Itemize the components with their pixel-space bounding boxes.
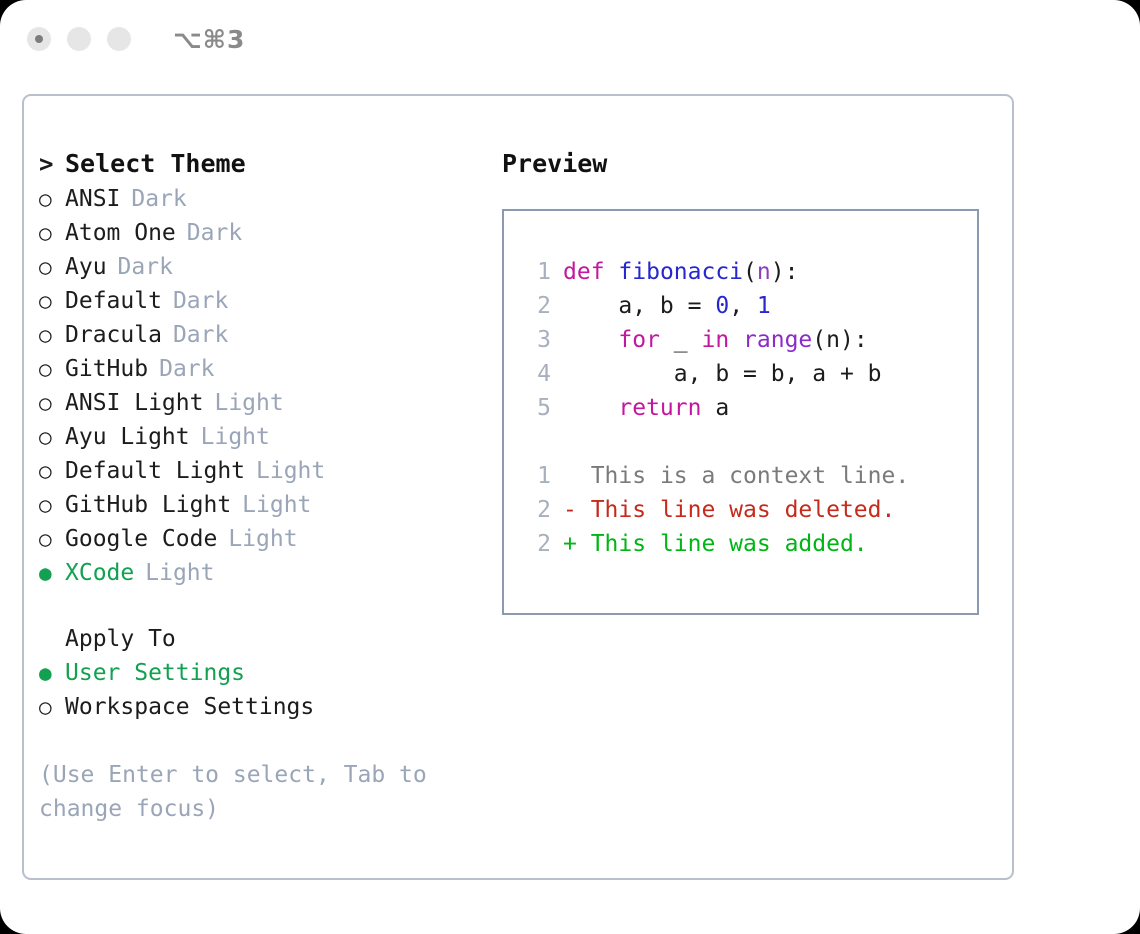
theme-option-row[interactable]: ●XCodeLight xyxy=(39,556,489,590)
code-line-number: 5 xyxy=(521,391,551,425)
code-token xyxy=(605,255,619,289)
code-line: 4 a, b = b, a + b xyxy=(521,357,909,391)
traffic-light-3-button[interactable] xyxy=(107,27,131,51)
code-token: (n): xyxy=(812,323,867,357)
theme-option-label: Default Light xyxy=(65,454,245,488)
code-token: return xyxy=(618,391,701,425)
code-token: 1 xyxy=(757,289,771,323)
diff-line: 2- This line was deleted. xyxy=(521,493,909,527)
theme-option-row[interactable]: ○Atom OneDark xyxy=(39,216,489,250)
keyboard-hint-text: (Use Enter to select, Tab to change focu… xyxy=(39,758,449,826)
radio-unselected-icon[interactable]: ○ xyxy=(39,386,65,420)
theme-variant-tag: Dark xyxy=(173,318,228,352)
code-line: 5 return a xyxy=(521,391,909,425)
preview-title: Preview xyxy=(502,146,1002,182)
theme-option-row[interactable]: ○Ayu LightLight xyxy=(39,420,489,454)
theme-option-label: GitHub Light xyxy=(65,488,231,522)
code-line-number: 3 xyxy=(521,323,551,357)
apply-to-options-list: ●User Settings○Workspace Settings xyxy=(39,656,489,724)
code-token: , xyxy=(729,289,757,323)
theme-option-row[interactable]: ○Default LightLight xyxy=(39,454,489,488)
preview-box: 1def fibonacci(n):2 a, b = 0, 13 for _ i… xyxy=(502,209,979,615)
radio-unselected-icon[interactable]: ○ xyxy=(39,352,65,386)
keyboard-shortcut-label: ⌥⌘3 xyxy=(173,25,245,54)
theme-variant-tag: Dark xyxy=(159,352,214,386)
code-token: range xyxy=(743,323,812,357)
theme-option-label: Ayu xyxy=(65,250,107,284)
apply-to-option-label: Workspace Settings xyxy=(65,690,314,724)
code-token: a xyxy=(701,391,729,425)
select-theme-heading-label: Select Theme xyxy=(65,146,246,182)
diff-line-text: This line was deleted. xyxy=(577,493,896,527)
diff-line-number: 2 xyxy=(521,493,551,527)
theme-list-column: > Select Theme ○ANSIDark○Atom OneDark○Ay… xyxy=(39,146,489,826)
code-token xyxy=(563,391,618,425)
code-token: ): xyxy=(771,255,799,289)
radio-unselected-icon[interactable]: ○ xyxy=(39,488,65,522)
code-line: 2 a, b = 0, 1 xyxy=(521,289,909,323)
radio-unselected-icon[interactable]: ○ xyxy=(39,250,65,284)
radio-unselected-icon[interactable]: ○ xyxy=(39,420,65,454)
radio-unselected-icon[interactable]: ○ xyxy=(39,284,65,318)
diff-line: 1 This is a context line. xyxy=(521,459,909,493)
code-line-number: 1 xyxy=(521,255,551,289)
traffic-light-1-button[interactable] xyxy=(27,27,51,51)
theme-picker-panel: > Select Theme ○ANSIDark○Atom OneDark○Ay… xyxy=(22,94,1014,880)
code-token: a, b = xyxy=(563,289,715,323)
theme-variant-tag: Dark xyxy=(131,182,186,216)
theme-option-row[interactable]: ○AyuDark xyxy=(39,250,489,284)
theme-option-label: Default xyxy=(65,284,162,318)
code-token: 0 xyxy=(715,289,729,323)
theme-variant-tag: Dark xyxy=(187,216,242,250)
radio-unselected-icon[interactable]: ○ xyxy=(39,216,65,250)
apply-to-option-row[interactable]: ○Workspace Settings xyxy=(39,690,489,724)
radio-selected-icon[interactable]: ● xyxy=(39,656,65,690)
traffic-light-active-pip xyxy=(35,35,43,43)
theme-variant-tag: Light xyxy=(145,556,214,590)
code-token xyxy=(563,323,618,357)
theme-variant-tag: Light xyxy=(201,420,270,454)
code-token: in xyxy=(701,323,729,357)
preview-column: Preview 1def fibonacci(n):2 a, b = 0, 13… xyxy=(502,146,1002,615)
app-window: ⌥⌘3 > Select Theme ○ANSIDark○Atom OneDar… xyxy=(0,0,1140,934)
select-theme-heading: > Select Theme xyxy=(39,146,489,182)
diff-sign: + xyxy=(563,527,577,561)
code-token: n xyxy=(757,255,771,289)
theme-variant-tag: Light xyxy=(214,386,283,420)
theme-option-row[interactable]: ○GitHubDark xyxy=(39,352,489,386)
radio-unselected-icon[interactable]: ○ xyxy=(39,690,65,724)
diff-line-number: 1 xyxy=(521,459,551,493)
diff-sign: - xyxy=(563,493,577,527)
theme-option-label: Dracula xyxy=(65,318,162,352)
theme-option-row[interactable]: ○ANSI LightLight xyxy=(39,386,489,420)
code-preview: 1def fibonacci(n):2 a, b = 0, 13 for _ i… xyxy=(521,255,909,561)
diff-line-text: This is a context line. xyxy=(577,459,909,493)
section-spacer xyxy=(39,590,489,622)
code-line-number: 2 xyxy=(521,289,551,323)
radio-unselected-icon[interactable]: ○ xyxy=(39,182,65,216)
theme-option-label: ANSI Light xyxy=(65,386,203,420)
theme-option-row[interactable]: ○GitHub LightLight xyxy=(39,488,489,522)
theme-option-label: XCode xyxy=(65,556,134,590)
theme-option-label: ANSI xyxy=(65,182,120,216)
title-bar: ⌥⌘3 xyxy=(0,0,1140,78)
code-line-number: 4 xyxy=(521,357,551,391)
apply-to-option-row[interactable]: ●User Settings xyxy=(39,656,489,690)
prompt-caret-icon: > xyxy=(39,146,65,182)
apply-to-option-label: User Settings xyxy=(65,656,245,690)
theme-option-row[interactable]: ○DraculaDark xyxy=(39,318,489,352)
theme-variant-tag: Dark xyxy=(118,250,173,284)
code-line: 3 for _ in range(n): xyxy=(521,323,909,357)
theme-option-label: Ayu Light xyxy=(65,420,190,454)
diff-line-text: This line was added. xyxy=(577,527,868,561)
radio-unselected-icon[interactable]: ○ xyxy=(39,454,65,488)
diff-line: 2+ This line was added. xyxy=(521,527,909,561)
code-token: ( xyxy=(743,255,757,289)
code-preview-separator xyxy=(521,425,909,459)
theme-option-label: Google Code xyxy=(65,522,217,556)
code-token: for xyxy=(618,323,660,357)
traffic-light-2-button[interactable] xyxy=(67,27,91,51)
theme-variant-tag: Dark xyxy=(173,284,228,318)
theme-option-label: Atom One xyxy=(65,216,176,250)
theme-variant-tag: Light xyxy=(256,454,325,488)
theme-options-list: ○ANSIDark○Atom OneDark○AyuDark○DefaultDa… xyxy=(39,182,489,590)
code-token: _ xyxy=(660,323,702,357)
radio-selected-icon[interactable]: ● xyxy=(39,556,65,590)
code-token: a, b = b, a + b xyxy=(563,357,882,391)
theme-option-row[interactable]: ○Google CodeLight xyxy=(39,522,489,556)
diff-line-number: 2 xyxy=(521,527,551,561)
theme-variant-tag: Light xyxy=(228,522,297,556)
diff-sign xyxy=(563,459,577,493)
theme-option-label: GitHub xyxy=(65,352,148,386)
code-line: 1def fibonacci(n): xyxy=(521,255,909,289)
code-token xyxy=(729,323,743,357)
theme-variant-tag: Light xyxy=(242,488,311,522)
code-token: fibonacci xyxy=(618,255,743,289)
apply-to-heading: Apply To xyxy=(39,622,489,656)
theme-option-row[interactable]: ○DefaultDark xyxy=(39,284,489,318)
theme-option-row[interactable]: ○ANSIDark xyxy=(39,182,489,216)
code-token: def xyxy=(563,255,605,289)
radio-unselected-icon[interactable]: ○ xyxy=(39,318,65,352)
radio-unselected-icon[interactable]: ○ xyxy=(39,522,65,556)
